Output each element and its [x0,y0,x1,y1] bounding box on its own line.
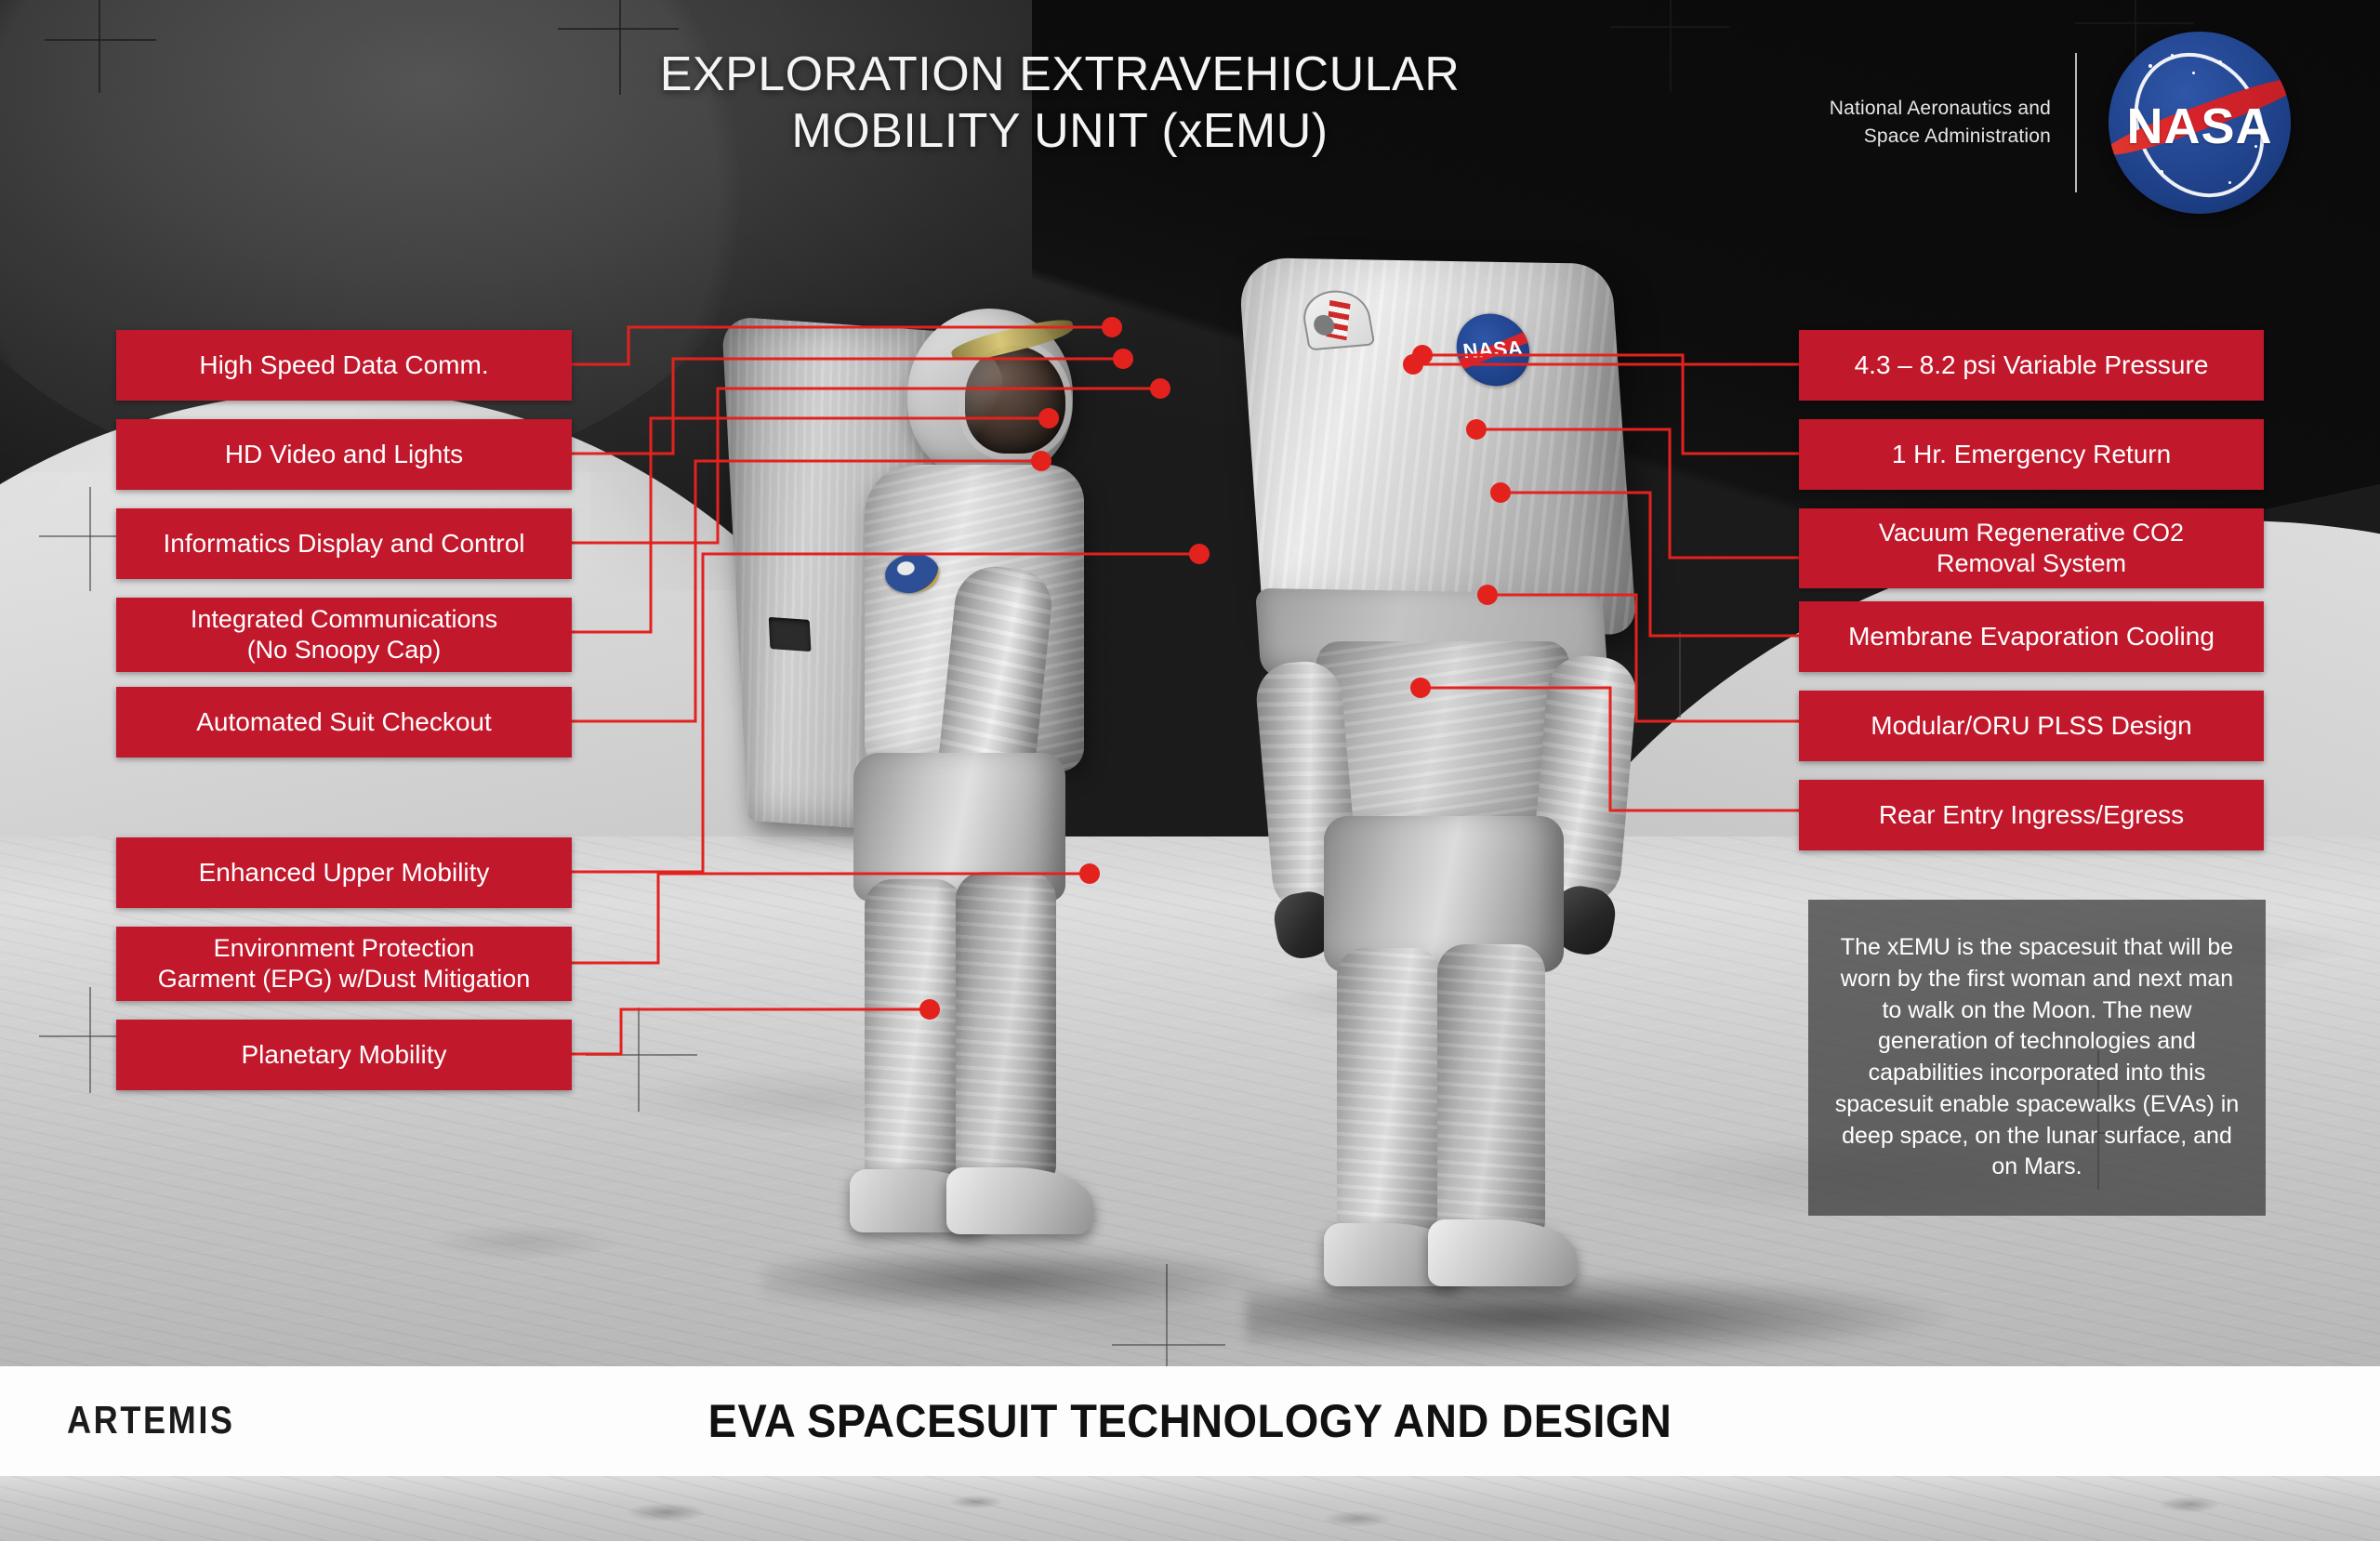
torso-right [1316,641,1569,836]
xemu-mission-patch-icon [1299,288,1375,351]
callout-variable-pressure[interactable]: 4.3 – 8.2 psi Variable Pressure [1799,330,2264,401]
leg-right-far [1437,944,1545,1242]
visor-left [965,346,1065,454]
callout-vacuum-regenerative-co2-removal[interactable]: Vacuum Regenerative CO2 Removal System [1799,508,2264,588]
bottom-regolith-strip [0,1476,2380,1541]
footer-bar: ARTEMIS EVA SPACESUIT TECHNOLOGY AND DES… [0,1366,2380,1476]
leg-left-far [956,872,1056,1186]
description-text: The xEMU is the spacesuit that will be w… [1832,932,2241,1183]
page-title-line-1: EXPLORATION EXTRAVEHICULAR [595,46,1525,103]
callout-rear-entry-ingress-egress[interactable]: Rear Entry Ingress/Egress [1799,780,2264,850]
callout-enhanced-upper-mobility[interactable]: Enhanced Upper Mobility [116,837,572,908]
callout-integrated-communications[interactable]: Integrated Communications (No Snoopy Cap… [116,598,572,672]
nasa-branding-block: National Aeronautics and Space Administr… [1830,32,2291,214]
callout-modular-oru-plss-design[interactable]: Modular/ORU PLSS Design [1799,691,2264,761]
nasa-meatball-logo-icon: NASA [2109,32,2291,214]
helmet-left [907,309,1073,481]
callout-environment-protection-garment[interactable]: Environment Protection Garment (EPG) w/D… [116,927,572,1001]
boot-left-far [946,1167,1093,1234]
nasa-wordmark: NASA [2126,98,2272,155]
plss-backpack-right: NASA [1237,257,1636,635]
callout-informatics-display-and-control[interactable]: Informatics Display and Control [116,508,572,579]
agency-name-line-2: Space Administration [1830,123,2051,151]
page-title: EXPLORATION EXTRAVEHICULAR MOBILITY UNIT… [595,46,1525,161]
leg-right-near [1337,948,1441,1240]
callout-automated-suit-checkout[interactable]: Automated Suit Checkout [116,687,572,757]
agency-name-line-1: National Aeronautics and [1830,95,2051,123]
plss-nasa-wordmark: NASA [1461,336,1525,363]
page-title-line-2: MOBILITY UNIT (xEMU) [595,103,1525,160]
divider [2075,53,2077,192]
description-panel: The xEMU is the spacesuit that will be w… [1808,900,2266,1216]
callout-hd-video-and-lights[interactable]: HD Video and Lights [116,419,572,490]
footer-title: EVA SPACESUIT TECHNOLOGY AND DESIGN [72,1394,2308,1448]
leg-left-near [865,879,963,1186]
astronaut-front-view [725,288,1153,1311]
boot-right-far [1428,1219,1577,1286]
astronaut-back-view: NASA [1227,242,1673,1320]
callout-planetary-mobility[interactable]: Planetary Mobility [116,1020,572,1090]
xemu-infographic-poster: NASA [0,0,2380,1541]
callout-high-speed-data-comm[interactable]: High Speed Data Comm. [116,330,572,401]
mission-patch-icon [882,550,941,597]
nasa-meatball-patch-icon: NASA [1452,312,1535,389]
callout-emergency-return[interactable]: 1 Hr. Emergency Return [1799,419,2264,490]
callout-membrane-evaporation-cooling[interactable]: Membrane Evaporation Cooling [1799,601,2264,672]
agency-name: National Aeronautics and Space Administr… [1830,95,2075,151]
